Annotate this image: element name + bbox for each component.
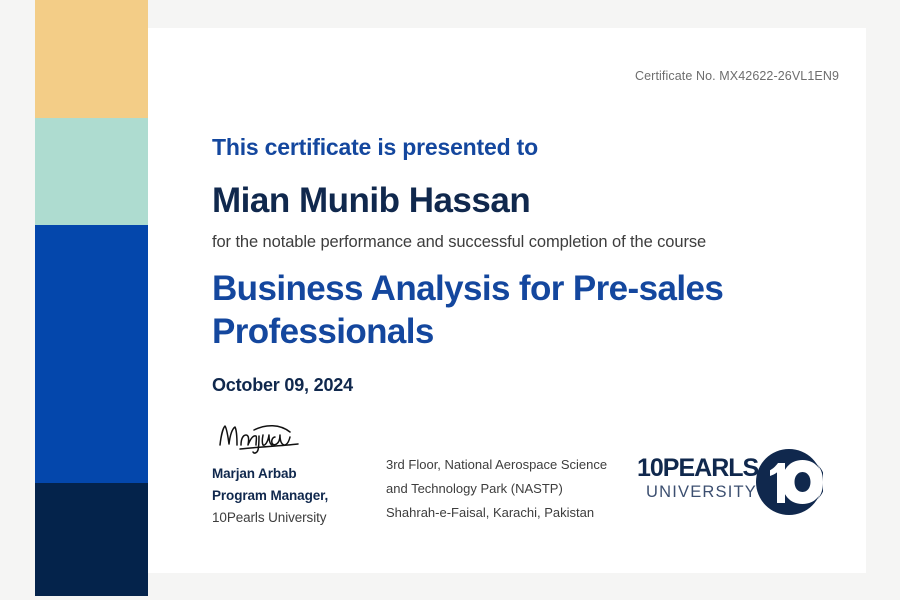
color-band-blue	[35, 225, 148, 483]
course-title: Business Analysis for Pre-sales Professi…	[212, 268, 812, 353]
10pearls-university-logo: 10PEARLS UNIVERSITY	[637, 448, 823, 520]
address-line-1: 3rd Floor, National Aerospace Science	[386, 453, 607, 477]
signatory-role: Program Manager,	[212, 488, 372, 503]
address-line-2: and Technology Park (NASTP)	[386, 477, 607, 501]
presented-to-heading: This certificate is presented to	[212, 134, 538, 161]
logo-subtitle-text: UNIVERSITY	[637, 484, 757, 501]
decorative-color-bar	[35, 0, 148, 596]
logo-wordmark: 10PEARLS UNIVERSITY	[637, 456, 757, 501]
color-band-gold	[35, 0, 148, 118]
signature-icon	[214, 420, 319, 456]
logo-circle-icon	[755, 448, 823, 516]
achievement-subline: for the notable performance and successf…	[212, 233, 706, 252]
signature-block: Marjan Arbab Program Manager, 10Pearls U…	[212, 420, 372, 525]
color-band-mint	[35, 118, 148, 225]
certificate-number: Certificate No. MX42622-26VL1EN9	[635, 69, 839, 83]
signatory-organization: 10Pearls University	[212, 510, 372, 525]
certificate-content: Certificate No. MX42622-26VL1EN9 This ce…	[212, 28, 852, 573]
address-block: 3rd Floor, National Aerospace Science an…	[386, 453, 607, 525]
recipient-name: Mian Munib Hassan	[212, 181, 530, 221]
color-band-navy	[35, 483, 148, 596]
signatory-name: Marjan Arbab	[212, 466, 372, 481]
certificate-footer: Marjan Arbab Program Manager, 10Pearls U…	[212, 420, 852, 550]
issue-date: October 09, 2024	[212, 375, 353, 396]
address-line-3: Shahrah-e-Faisal, Karachi, Pakistan	[386, 501, 607, 525]
logo-brand-text: 10PEARLS	[637, 456, 757, 481]
